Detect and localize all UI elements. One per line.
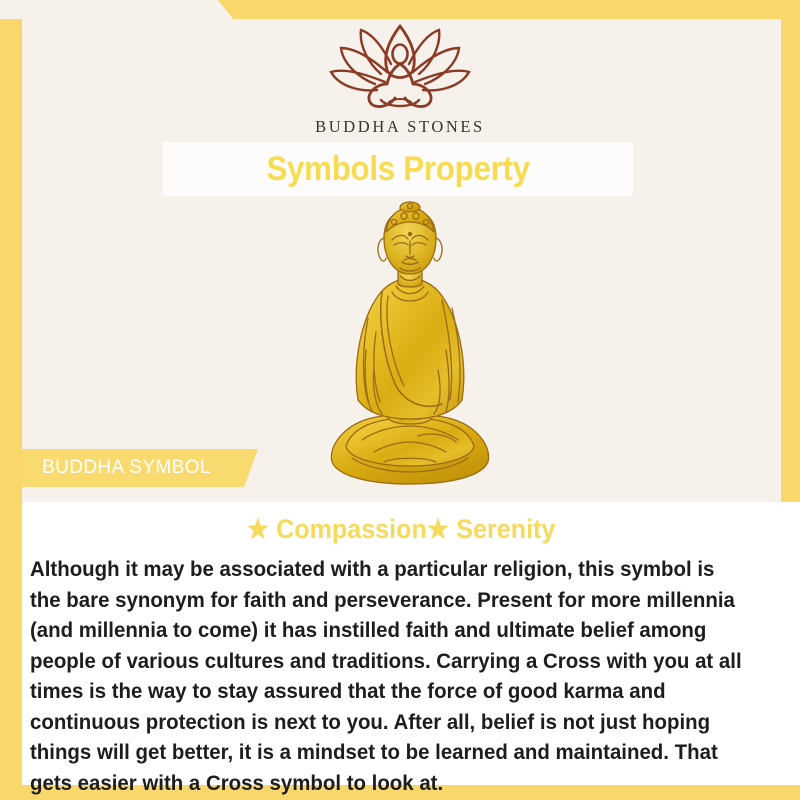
content-paragraph: Although it may be associated with a par… [30,554,744,798]
golden-buddha-icon [322,200,498,496]
lotus-meditation-icon [325,22,475,114]
brand-name: BUDDHA STONES [0,117,800,137]
content-subheading: ★ Compassion★ Serenity [49,514,754,545]
infographic-page: BUDDHA STONES Symbols Property [0,0,800,800]
content-panel: ★ Compassion★ Serenity Although it may b… [22,502,800,785]
frame-top-edge [0,0,800,19]
frame-top-bar [0,0,800,19]
brand-logo: BUDDHA STONES [0,22,800,137]
page-title: Symbols Property [266,150,529,189]
banner-label: BUDDHA SYMBOL [42,457,211,479]
hero-image-golden-buddha [322,200,498,496]
section-banner-buddha-symbol: BUDDHA SYMBOL [22,449,258,487]
title-band: Symbols Property [163,142,633,196]
